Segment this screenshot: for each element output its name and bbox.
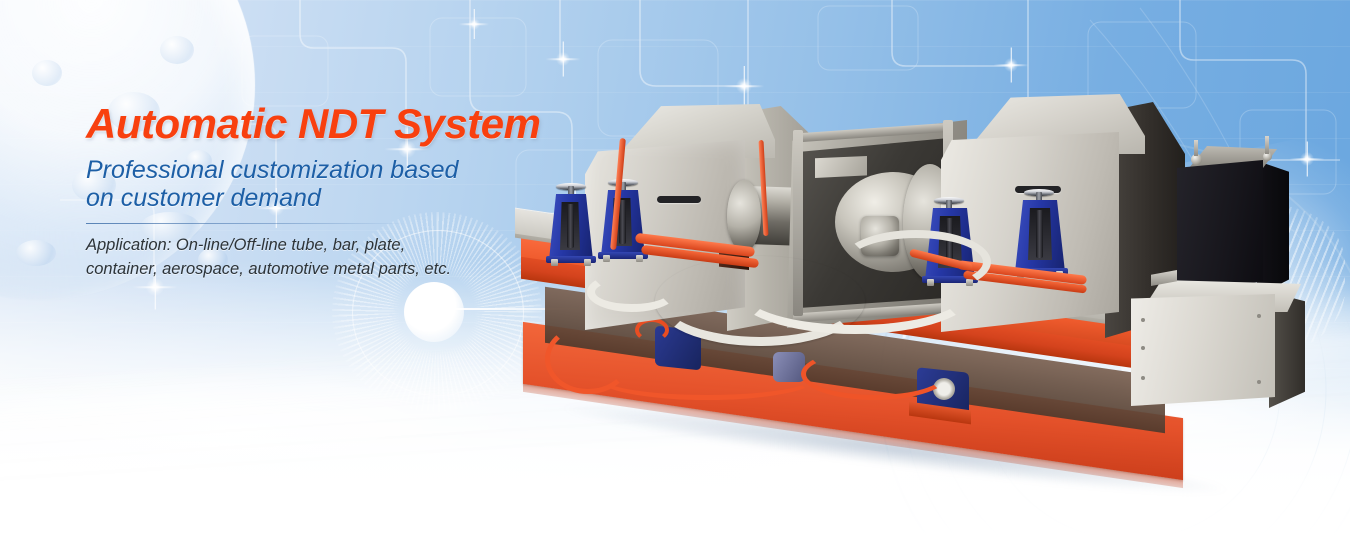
- hand-wheel-1[interactable]: [556, 180, 586, 192]
- cabinet-bolt-stud: [1265, 136, 1269, 154]
- hand-wheel-2[interactable]: [608, 176, 638, 188]
- rotary-core-plate: [815, 156, 867, 178]
- automatic-ndt-inspection-machine: [505, 80, 1305, 520]
- cabinet-bolt-stud-2: [1194, 140, 1198, 156]
- blue-roller-stand-4: [1015, 186, 1065, 272]
- junction-box-screw-2: [1141, 346, 1145, 350]
- control-cabinet-face: [1177, 160, 1263, 292]
- hand-wheel-4[interactable]: [1024, 186, 1054, 198]
- subtitle: Professional customization based on cust…: [86, 156, 556, 213]
- junction-box-screw-3: [1141, 376, 1145, 380]
- application-text: Application: On-line/Off-line tube, bar,…: [86, 233, 556, 282]
- housing-handle-left[interactable]: [657, 196, 701, 203]
- application-line-1: Application: On-line/Off-line tube, bar,…: [86, 233, 556, 257]
- subtitle-line-1: Professional customization based: [86, 156, 556, 185]
- blue-roller-stand-2: [601, 176, 645, 256]
- hero-text-block: Automatic NDT System Professional custom…: [86, 102, 556, 281]
- divider: [86, 223, 408, 224]
- subtitle-line-2: on customer demand: [86, 184, 556, 213]
- junction-box-face: [1131, 294, 1275, 406]
- page-title: Automatic NDT System: [86, 102, 556, 146]
- rotary-core-flange: [727, 180, 761, 252]
- junction-box-screw-4: [1257, 314, 1261, 318]
- junction-box-screw-5: [1257, 380, 1261, 384]
- hand-wheel-3[interactable]: [934, 194, 964, 206]
- application-line-2: container, aerospace, automotive metal p…: [86, 257, 556, 281]
- junction-box-screw-1: [1141, 318, 1145, 322]
- ndt-hero-banner: Automatic NDT System Professional custom…: [0, 0, 1350, 540]
